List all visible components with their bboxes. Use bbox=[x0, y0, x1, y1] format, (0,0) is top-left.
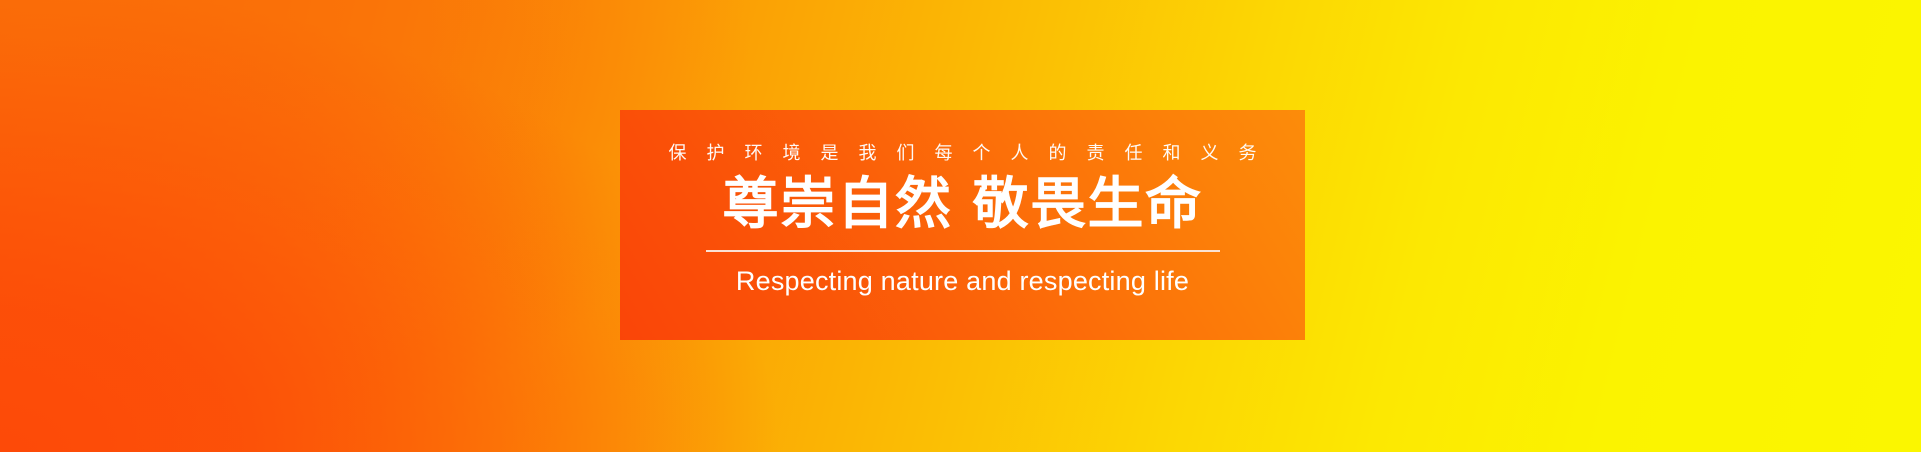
headline: 尊崇自然敬畏生命 bbox=[723, 171, 1203, 237]
headline-phrase-left: 尊崇自然 bbox=[723, 172, 953, 235]
tagline-text: 保 护 环 境 是 我 们 每 个 人 的 责 任 和 义 务 bbox=[661, 140, 1264, 166]
slogan-card: 保 护 环 境 是 我 们 每 个 人 的 责 任 和 义 务 尊崇自然敬畏生命… bbox=[620, 110, 1305, 340]
environment-banner: 保 护 环 境 是 我 们 每 个 人 的 责 任 和 义 务 尊崇自然敬畏生命… bbox=[0, 0, 1921, 452]
subtitle-text: Respecting nature and respecting life bbox=[736, 263, 1189, 299]
headline-phrase-right: 敬畏生命 bbox=[973, 172, 1203, 235]
headline-divider bbox=[706, 250, 1220, 252]
